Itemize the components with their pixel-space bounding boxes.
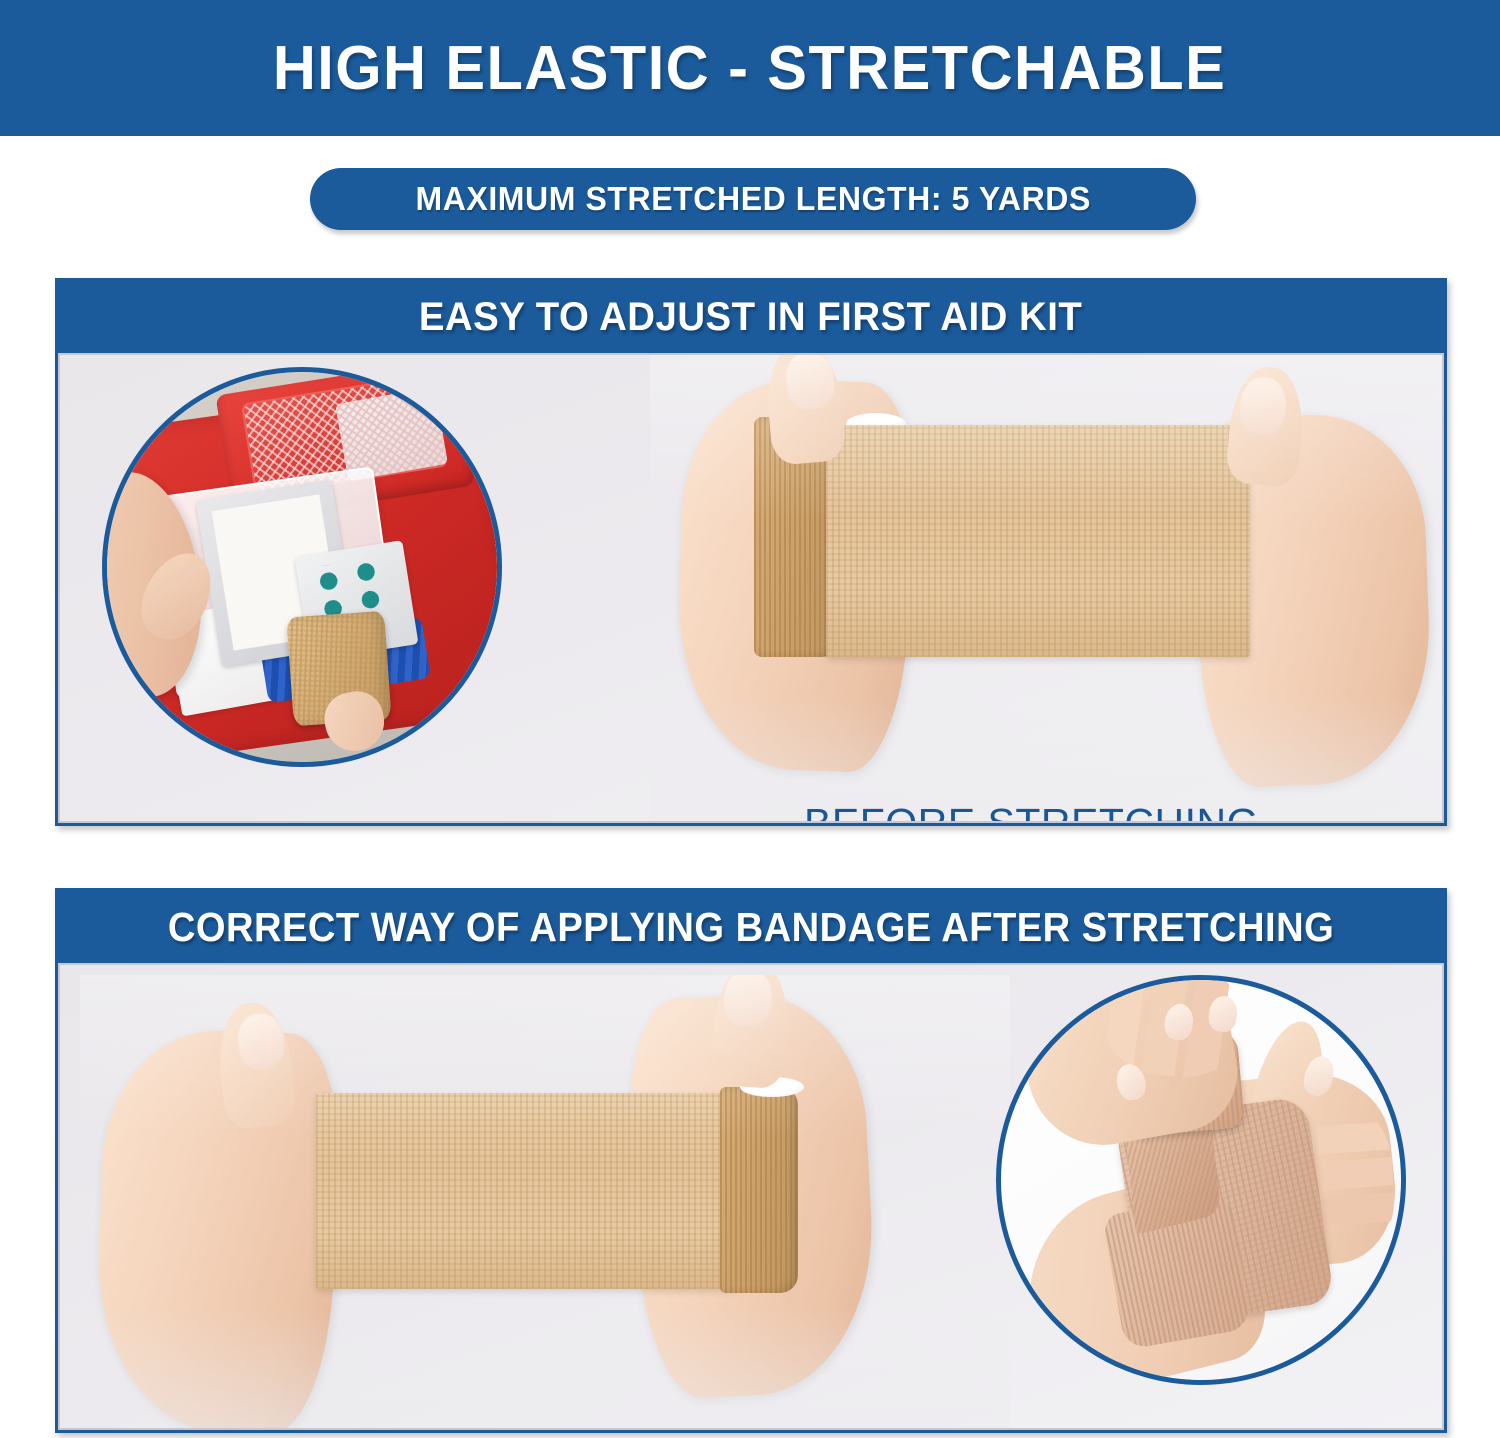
wrist-wrapping-photo-inner [1001,980,1401,1380]
first-aid-kit-photo [102,367,502,767]
panel-one-header: EASY TO ADJUST IN FIRST AID KIT [58,281,1444,353]
panel-two-body [58,963,1444,1430]
infographic-page: HIGH ELASTIC - STRETCHABLE MAXIMUM STRET… [0,0,1500,1438]
stretched-bandage-strip [316,1093,736,1289]
panel-one-body: BEFORE STRETCHING [58,353,1444,823]
panel-easy-to-adjust: EASY TO ADJUST IN FIRST AID KIT [55,278,1447,826]
bandage-roll-edge [720,1087,798,1293]
unstretched-bandage-strip [826,425,1250,657]
panel-two-header-label: CORRECT WAY OF APPLYING BANDAGE AFTER ST… [168,904,1334,951]
panel-two-header: CORRECT WAY OF APPLYING BANDAGE AFTER ST… [58,891,1444,963]
max-stretched-length-pill: MAXIMUM STRETCHED LENGTH: 5 YARDS [310,168,1196,230]
panel-one-header-label: EASY TO ADJUST IN FIRST AID KIT [419,295,1082,340]
page-title: HIGH ELASTIC - STRETCHABLE [273,33,1226,104]
left-hand [93,1027,342,1430]
hands-holding-stretched-bandage-photo [80,975,1010,1430]
hands-holding-unstretched-bandage-photo [650,355,1444,823]
max-stretched-length-label: MAXIMUM STRETCHED LENGTH: 5 YARDS [415,180,1090,218]
left-fingernail [235,1011,287,1072]
before-stretching-label: BEFORE STRETCHING [804,800,1259,823]
page-title-band: HIGH ELASTIC - STRETCHABLE [0,0,1500,136]
first-aid-kit-photo-inner [107,372,497,762]
wrist-wrapping-photo [996,975,1406,1385]
panel-correct-way-of-applying: CORRECT WAY OF APPLYING BANDAGE AFTER ST… [55,888,1447,1433]
